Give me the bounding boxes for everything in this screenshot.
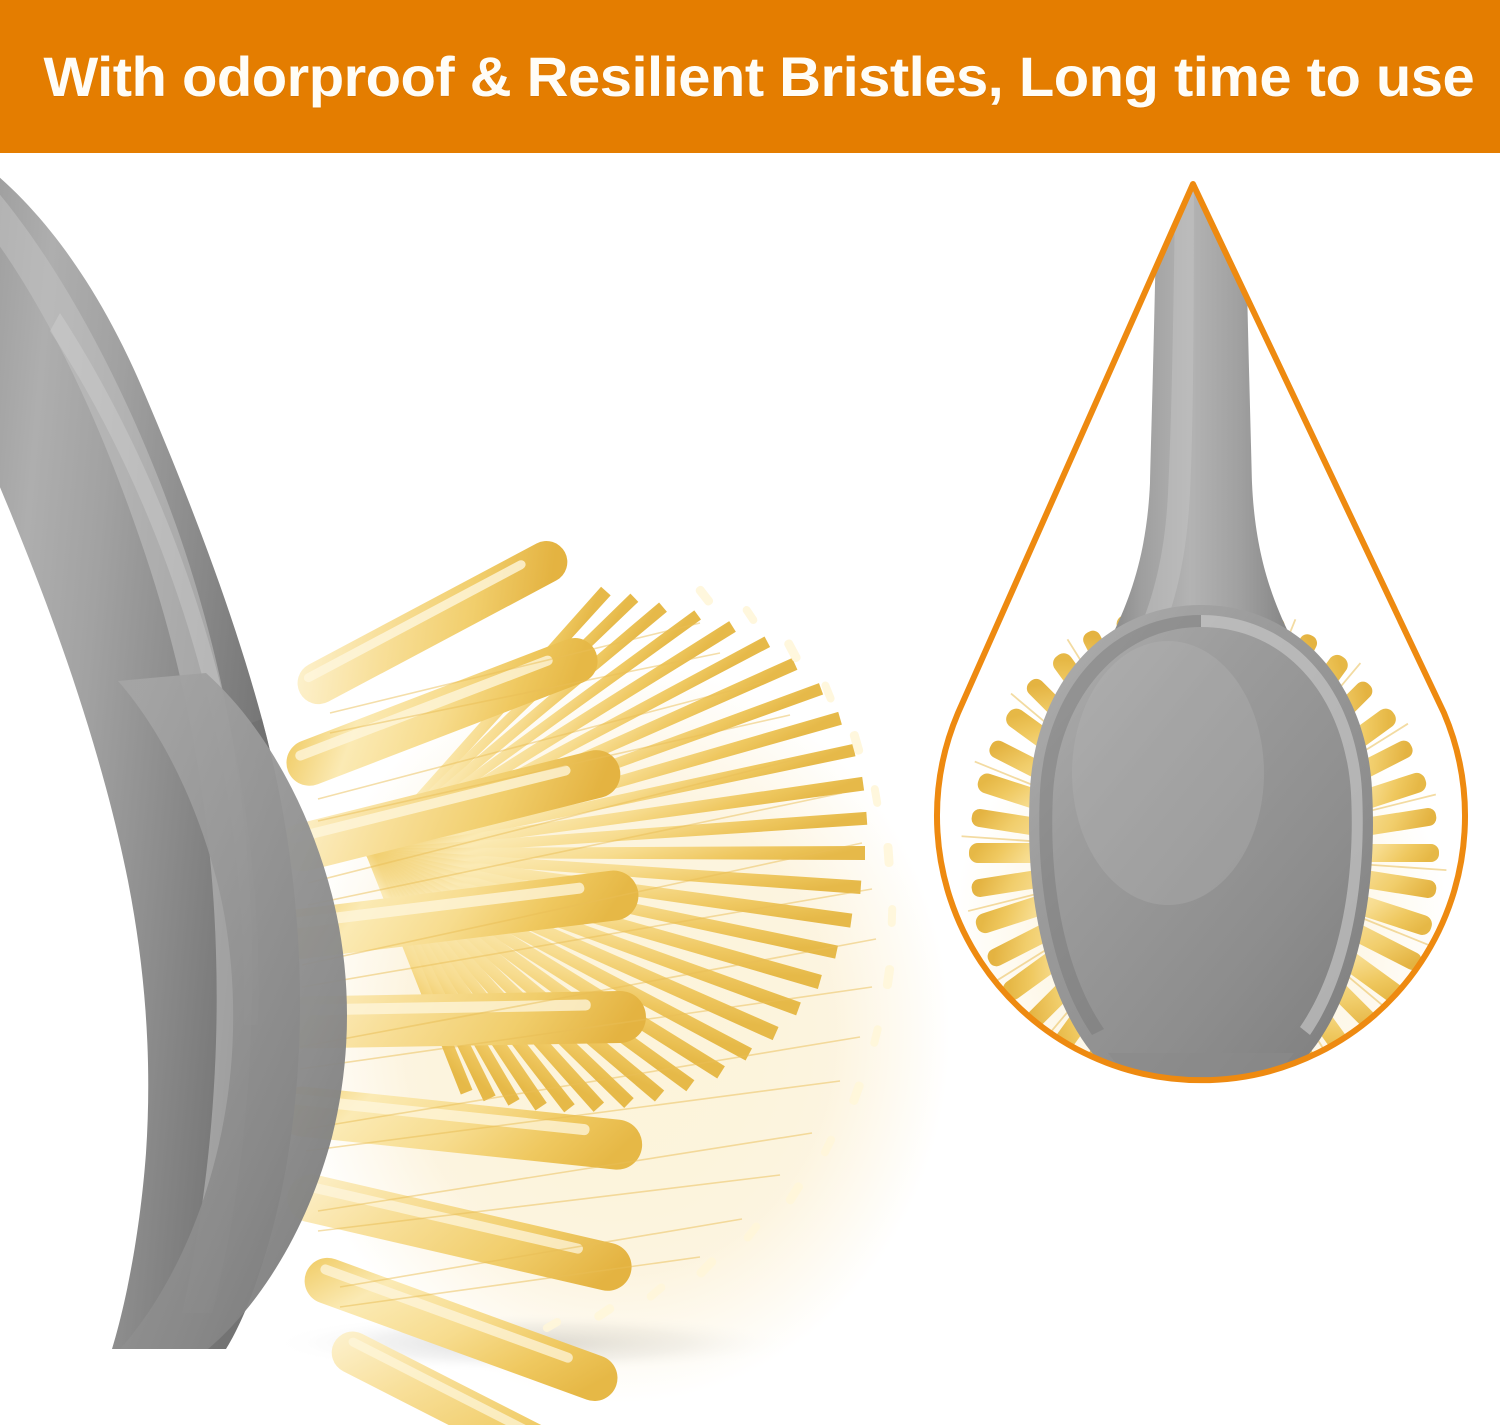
headline-banner: With odorproof & Resilient Bristles, Lon… [0,0,1500,153]
inset-brush-head [1029,605,1373,1103]
main-brush [0,153,950,1425]
product-marketing-image: With odorproof & Resilient Bristles, Lon… [0,0,1500,1425]
banner-headline-text: With odorproof & Resilient Bristles, Lon… [0,44,1474,109]
main-bristles [273,534,950,1425]
product-artwork [0,153,1500,1425]
callout-teardrop [937,153,1465,1205]
